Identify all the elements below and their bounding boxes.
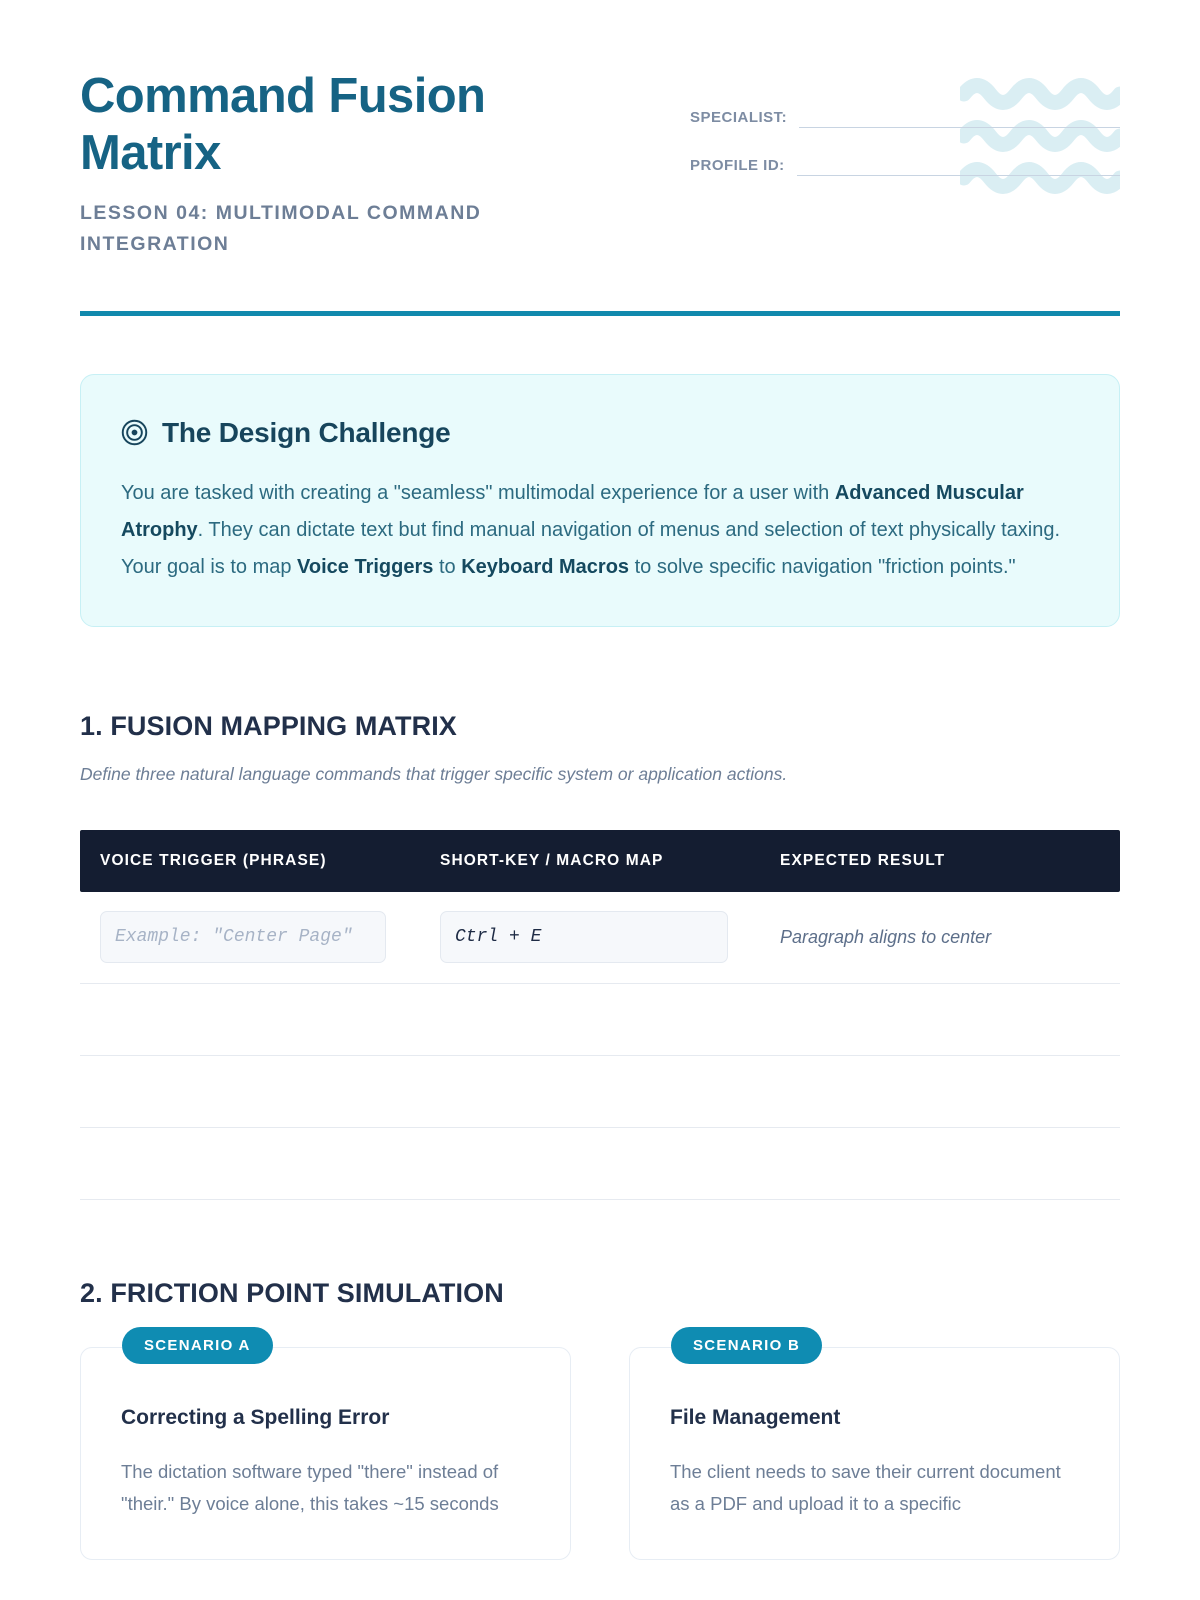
page-header: Command Fusion Matrix LESSON 04: MULTIMO…: [80, 0, 1120, 261]
scenario-grid: SCENARIO A Correcting a Spelling Error T…: [80, 1327, 1120, 1561]
header-left: Command Fusion Matrix LESSON 04: MULTIMO…: [80, 68, 640, 261]
column-header-voice-trigger: VOICE TRIGGER (PHRASE): [100, 852, 440, 870]
cell-macro-map: Ctrl + E: [440, 911, 780, 963]
header-meta: SPECIALIST: PROFILE ID:: [690, 68, 1120, 202]
voice-trigger-input[interactable]: Example: "Center Page": [100, 911, 386, 963]
expected-result-text: Paragraph aligns to center: [780, 927, 1100, 948]
column-header-macro-map: SHORT-KEY / MACRO MAP: [440, 852, 780, 870]
section-1-note: Define three natural language commands t…: [80, 764, 1120, 785]
fusion-matrix-table: VOICE TRIGGER (PHRASE) SHORT-KEY / MACRO…: [80, 830, 1120, 1200]
column-header-expected-result: EXPECTED RESULT: [780, 852, 1100, 870]
scenario-a-badge: SCENARIO A: [122, 1327, 273, 1364]
page-title: Command Fusion Matrix: [80, 68, 550, 182]
table-row[interactable]: [80, 1128, 1120, 1200]
table-header-row: VOICE TRIGGER (PHRASE) SHORT-KEY / MACRO…: [80, 830, 1120, 892]
callout-body: You are tasked with creating a "seamless…: [121, 475, 1079, 586]
section-friction-point: 2. FRICTION POINT SIMULATION SCENARIO A …: [80, 1278, 1120, 1561]
scenario-b-name: File Management: [670, 1406, 1079, 1430]
scenario-b-text: The client needs to save their current d…: [670, 1456, 1079, 1520]
table-row: Example: "Center Page" Ctrl + E Paragrap…: [80, 892, 1120, 984]
profile-id-field-row: PROFILE ID:: [690, 154, 1120, 176]
scenario-b-wrapper: SCENARIO B File Management The client ne…: [629, 1327, 1120, 1561]
cell-expected-result: Paragraph aligns to center: [780, 927, 1100, 948]
table-row[interactable]: [80, 1056, 1120, 1128]
section-fusion-mapping: 1. FUSION MAPPING MATRIX Define three na…: [80, 711, 1120, 1200]
callout-title: The Design Challenge: [162, 417, 451, 449]
scenario-a-text: The dictation software typed "there" ins…: [121, 1456, 530, 1520]
section-1-title: 1. FUSION MAPPING MATRIX: [80, 711, 1120, 742]
cell-voice-trigger: Example: "Center Page": [100, 911, 440, 963]
profile-id-label: PROFILE ID:: [690, 157, 785, 176]
callout-header: The Design Challenge: [121, 417, 1079, 449]
macro-map-input[interactable]: Ctrl + E: [440, 911, 728, 963]
profile-id-input[interactable]: [797, 154, 1120, 176]
section-2-title: 2. FRICTION POINT SIMULATION: [80, 1278, 1120, 1309]
specialist-label: SPECIALIST:: [690, 109, 787, 128]
design-challenge-callout: The Design Challenge You are tasked with…: [80, 374, 1120, 627]
target-icon: [121, 419, 148, 446]
worksheet-page: Command Fusion Matrix LESSON 04: MULTIMO…: [0, 0, 1200, 1600]
specialist-field-row: SPECIALIST:: [690, 106, 1120, 128]
header-divider: [80, 311, 1120, 316]
scenario-b-badge: SCENARIO B: [671, 1327, 822, 1364]
scenario-b-card: File Management The client needs to save…: [629, 1347, 1120, 1561]
scenario-a-card: Correcting a Spelling Error The dictatio…: [80, 1347, 571, 1561]
wave-decoration-icon: [960, 68, 1120, 198]
scenario-a-wrapper: SCENARIO A Correcting a Spelling Error T…: [80, 1327, 571, 1561]
page-subtitle: LESSON 04: MULTIMODAL COMMAND INTEGRATIO…: [80, 198, 580, 261]
table-row[interactable]: [80, 984, 1120, 1056]
scenario-a-name: Correcting a Spelling Error: [121, 1406, 530, 1430]
specialist-input[interactable]: [799, 106, 1120, 128]
